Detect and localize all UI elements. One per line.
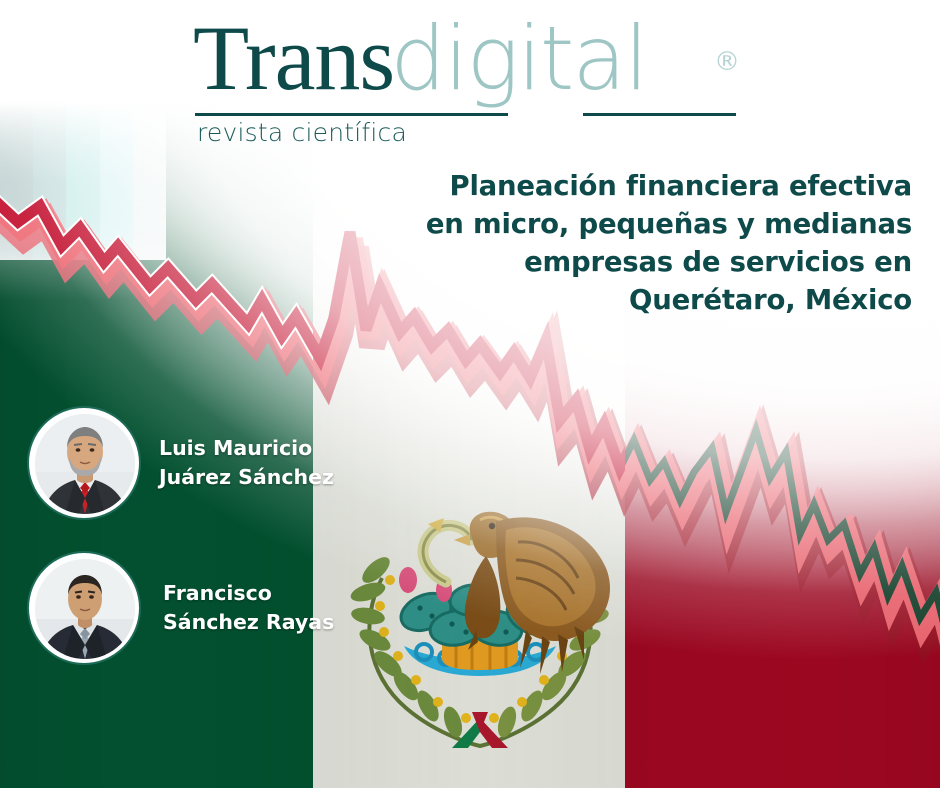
portrait-illustration-1 [35, 414, 135, 514]
journal-logo[interactable]: Transdigital ® revista científica [193, 12, 738, 140]
portrait-illustration-2 [35, 559, 135, 659]
author-name-1: Luis Mauricio Juárez Sánchez [159, 434, 334, 492]
logo-wordmark: Transdigital ® [193, 12, 738, 104]
article-title: Planeación financiera efectiva en micro,… [422, 168, 912, 320]
stripe-2 [33, 0, 66, 260]
author-entry-2: Francisco Sánchez Rayas [27, 551, 334, 665]
stripe-5 [133, 0, 166, 260]
author-photo-2 [35, 559, 135, 659]
logo-text-digital: digital [390, 7, 646, 110]
author-photo-1 [35, 414, 135, 514]
registered-trademark-icon: ® [714, 16, 740, 108]
avatar [27, 406, 141, 520]
stripe-4 [100, 0, 133, 260]
author-name-2: Francisco Sánchez Rayas [163, 579, 334, 637]
logo-underline-left [195, 113, 508, 116]
logo-tagline: revista científica [197, 118, 407, 147]
avatar [27, 551, 141, 665]
author-entry-1: Luis Mauricio Juárez Sánchez [27, 406, 334, 520]
logo-text-trans: Trans [193, 7, 394, 109]
journal-cover: Transdigital ® revista científica Planea… [0, 0, 940, 788]
logo-underline-right [583, 113, 736, 116]
stripe-1 [0, 0, 33, 260]
brand-stripe-block [0, 0, 166, 260]
stripe-3 [66, 0, 99, 260]
